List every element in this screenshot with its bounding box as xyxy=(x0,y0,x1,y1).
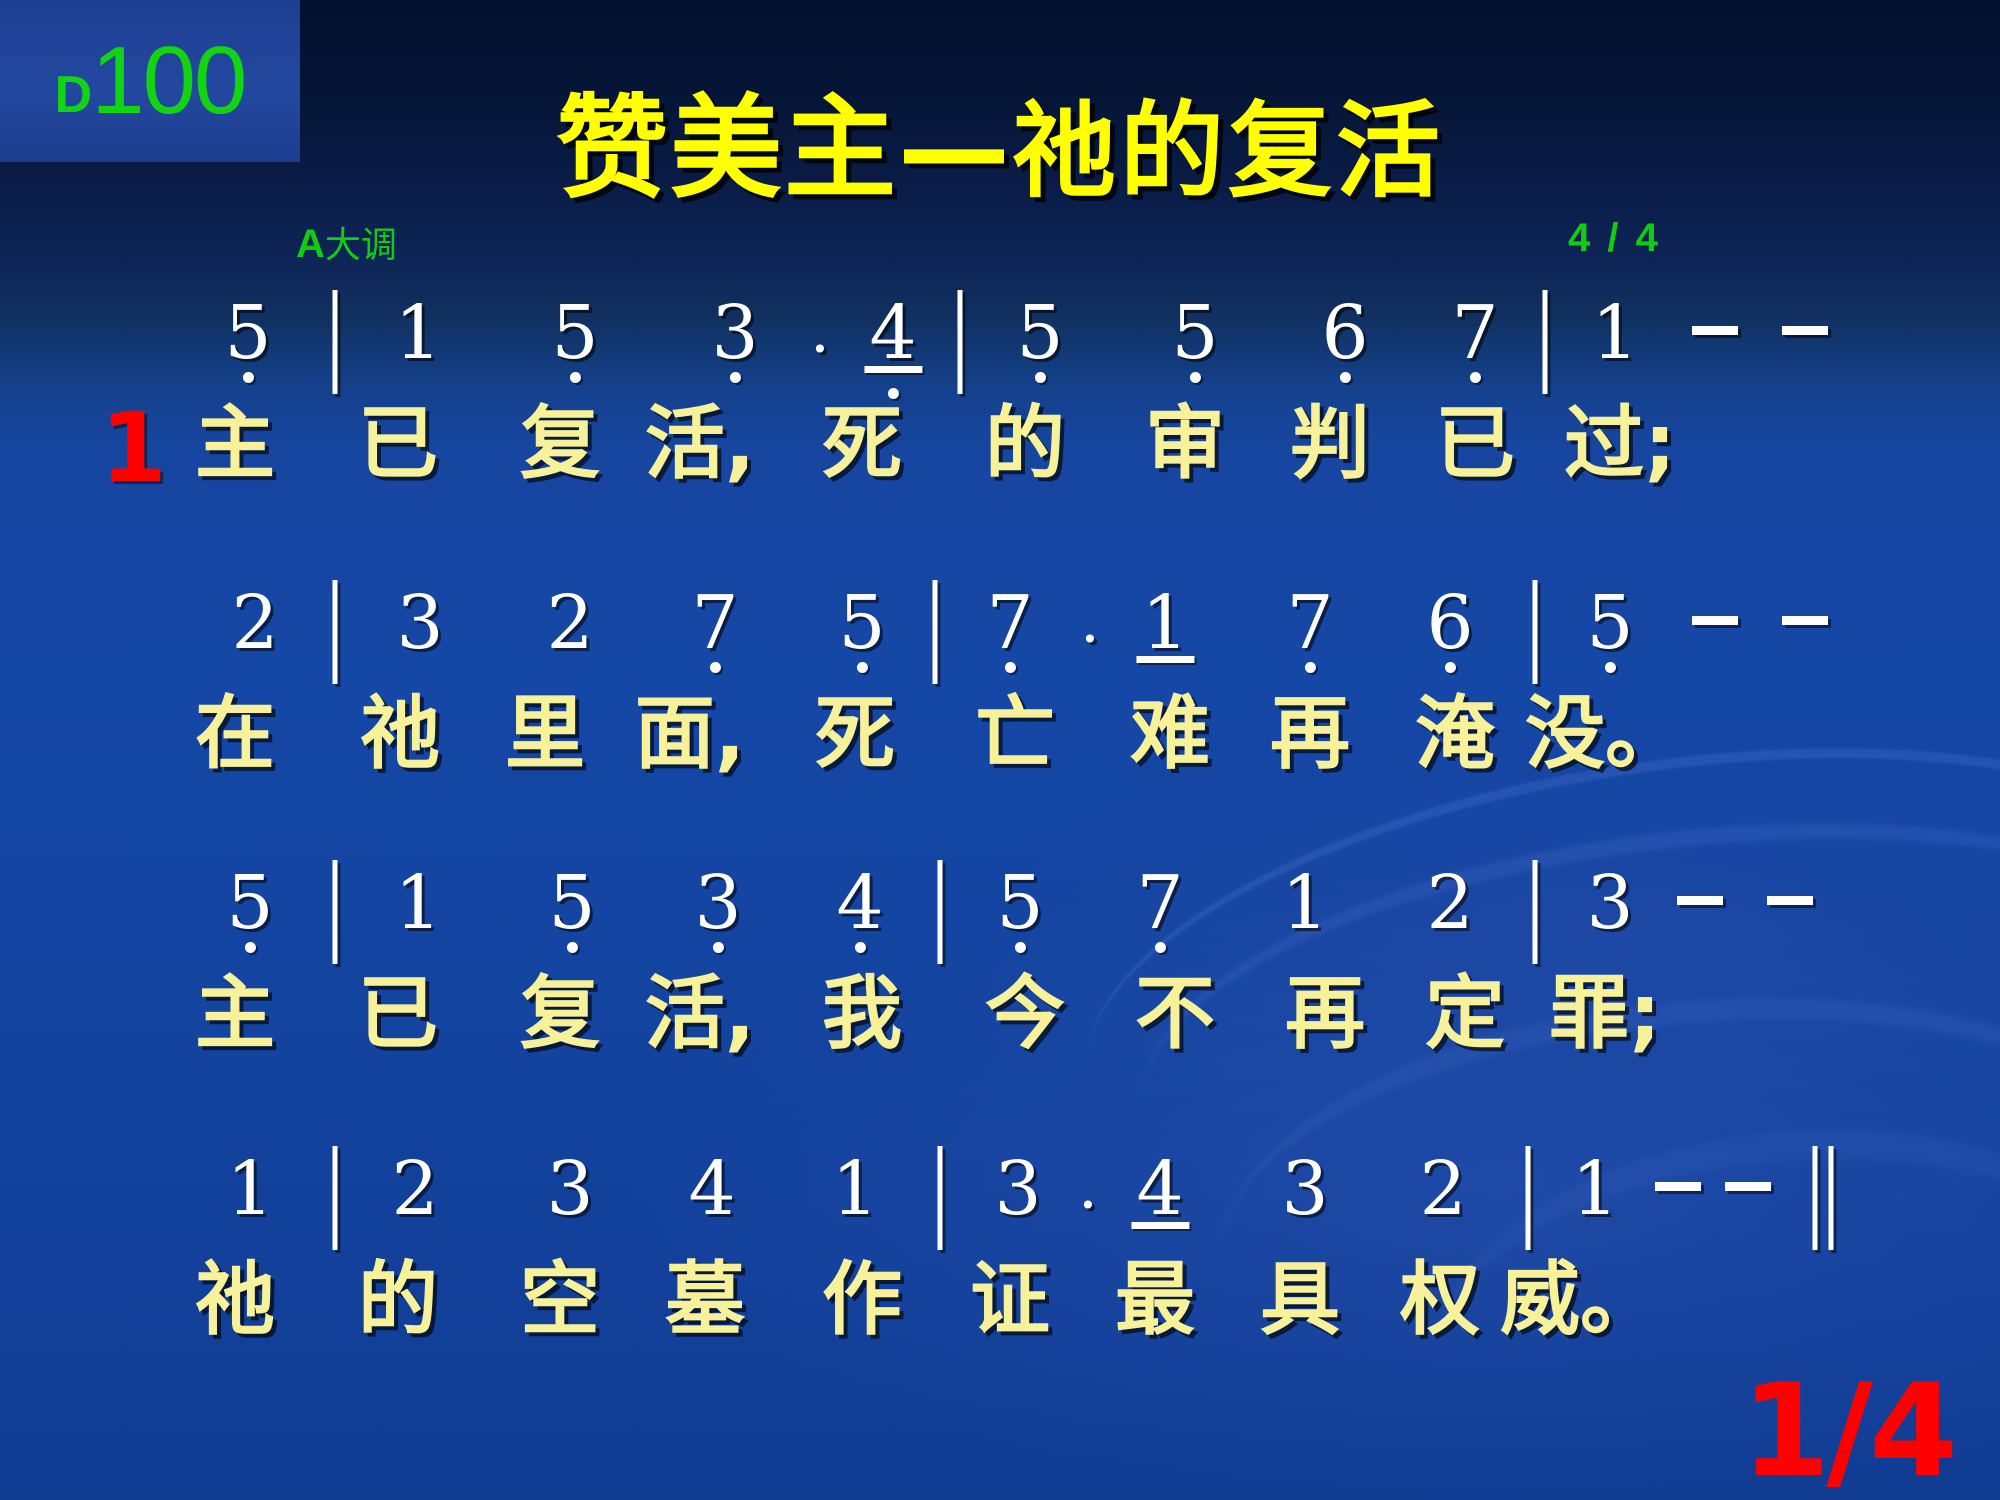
note-extension-dash xyxy=(1782,326,1828,335)
lyric-syllable: 祂 xyxy=(360,694,440,774)
octave-low-dot xyxy=(857,662,868,673)
music-system-3: 5153457123 主已复活,我今不再定罪; xyxy=(0,866,2000,1084)
note-extension-dash xyxy=(1692,326,1738,335)
slide-canvas: D 100 赞美主—祂的复活 A大调 4 / 4 1 5153·455671 主… xyxy=(0,0,2000,1500)
lyric-syllable: 面, xyxy=(635,694,745,774)
lyric-syllable: 再 xyxy=(1285,974,1365,1054)
double-barline xyxy=(1813,1146,1818,1250)
lyric-syllable: 已 xyxy=(1435,404,1515,484)
lyric-syllable: 里 xyxy=(505,694,585,774)
dotted-note-dot: · xyxy=(810,318,830,380)
note-1: 1 xyxy=(394,866,441,940)
lyric-syllable: 死 xyxy=(822,404,902,484)
lyric-syllable: 证 xyxy=(970,1260,1050,1340)
note-1: 1 xyxy=(226,1152,273,1226)
note-5: 5 xyxy=(224,296,271,370)
barline xyxy=(1543,290,1548,394)
note-5: 5 xyxy=(1171,296,1218,370)
note-5: 5 xyxy=(996,866,1043,940)
lyric-syllable: 罪; xyxy=(1549,974,1661,1054)
note-5: 5 xyxy=(548,866,595,940)
note-3: 3 xyxy=(711,296,758,370)
notation-row-2: 232757·1765 xyxy=(0,586,2000,694)
note-5: 5 xyxy=(838,586,885,660)
note-7: 7 xyxy=(1136,866,1183,940)
octave-low-dot xyxy=(855,942,866,953)
barline xyxy=(958,290,963,394)
note-4: 4 xyxy=(688,1152,735,1226)
octave-low-dot xyxy=(570,372,581,383)
music-system-1: 5153·455671 主已复活,死的审判已过; xyxy=(0,296,2000,514)
lyric-syllable: 没。 xyxy=(1525,694,1685,774)
note-7: 7 xyxy=(1451,296,1498,370)
barline xyxy=(938,1146,943,1250)
note-4: 4 xyxy=(836,866,883,940)
page-indicator: 1/4 xyxy=(1741,1368,1954,1496)
lyric-syllable: 在 xyxy=(195,694,275,774)
notation-row-1: 5153·455671 xyxy=(0,296,2000,404)
dotted-note-dot: · xyxy=(1078,1174,1098,1236)
key-signature: A大调 xyxy=(296,216,397,268)
note-4: 4 xyxy=(869,296,916,370)
lyric-syllable: 淹 xyxy=(1415,694,1495,774)
lyric-syllable: 判 xyxy=(1290,404,1370,484)
note-1: 1 xyxy=(1281,866,1328,940)
note-3: 3 xyxy=(694,866,741,940)
octave-low-dot xyxy=(1340,372,1351,383)
lyric-syllable: 审 xyxy=(1145,404,1225,484)
dotted-note-dot: · xyxy=(1080,608,1100,670)
note-1: 1 xyxy=(831,1152,878,1226)
note-1: 1 xyxy=(1591,296,1638,370)
lyric-syllable: 过; xyxy=(1564,404,1676,484)
lyric-syllable: 最 xyxy=(1115,1260,1195,1340)
lyric-syllable: 的 xyxy=(985,404,1065,484)
key-signature-label: 大调 xyxy=(325,224,397,265)
octave-low-dot xyxy=(1035,372,1046,383)
lyric-syllable: 墓 xyxy=(665,1260,745,1340)
octave-low-dot xyxy=(710,662,721,673)
note-extension-dash xyxy=(1677,896,1723,905)
note-1: 1 xyxy=(394,296,441,370)
barline xyxy=(333,860,338,964)
lyric-syllable: 定 xyxy=(1425,974,1505,1054)
barline xyxy=(333,290,338,394)
notation-row-4: 123413·4321 xyxy=(0,1152,2000,1260)
page-title: 赞美主—祂的复活 xyxy=(0,58,2000,220)
lyric-syllable: 作 xyxy=(822,1260,902,1340)
note-3: 3 xyxy=(396,586,443,660)
note-3: 3 xyxy=(1281,1152,1328,1226)
note-1: 1 xyxy=(1571,1152,1618,1226)
note-7: 7 xyxy=(1286,586,1333,660)
lyric-syllable: 威。 xyxy=(1500,1260,1660,1340)
note-7: 7 xyxy=(691,586,738,660)
key-signature-letter: A xyxy=(296,222,325,266)
note-5: 5 xyxy=(551,296,598,370)
barline xyxy=(333,1146,338,1250)
note-3: 3 xyxy=(1586,866,1633,940)
barline xyxy=(1526,1146,1531,1250)
lyric-syllable: 的 xyxy=(358,1260,438,1340)
note-5: 5 xyxy=(1586,586,1633,660)
note-7: 7 xyxy=(986,586,1033,660)
lyric-syllable: 主 xyxy=(195,974,275,1054)
time-signature: 4 / 4 xyxy=(1568,216,1661,261)
octave-low-dot xyxy=(1445,662,1456,673)
barline xyxy=(333,580,338,684)
note-extension-dash xyxy=(1692,616,1738,625)
lyric-row-2: 在祂里面,死亡难再淹没。 xyxy=(0,694,2000,804)
note-extension-dash xyxy=(1767,896,1813,905)
lyric-syllable: 活, xyxy=(645,404,755,484)
note-extension-dash xyxy=(1655,1182,1701,1191)
note-2: 2 xyxy=(546,586,593,660)
note-1: 1 xyxy=(1141,586,1188,660)
octave-low-dot xyxy=(245,942,256,953)
lyric-syllable: 死 xyxy=(815,694,895,774)
octave-low-dot xyxy=(1605,662,1616,673)
lyric-syllable: 已 xyxy=(358,974,438,1054)
notation-row-3: 5153457123 xyxy=(0,866,2000,974)
lyric-syllable: 主 xyxy=(195,404,275,484)
octave-low-dot xyxy=(567,942,578,953)
note-2: 2 xyxy=(1426,866,1473,940)
lyric-syllable: 权 xyxy=(1400,1260,1480,1340)
barline xyxy=(933,580,938,684)
lyric-syllable: 复 xyxy=(520,974,600,1054)
octave-low-dot xyxy=(243,372,254,383)
octave-low-dot xyxy=(730,372,741,383)
title-sub: 祂的复活 xyxy=(1012,89,1444,212)
octave-low-dot xyxy=(1470,372,1481,383)
note-extension-dash xyxy=(1782,616,1828,625)
lyric-syllable: 祂 xyxy=(195,1260,275,1340)
note-4: 4 xyxy=(1136,1152,1183,1226)
octave-low-dot xyxy=(713,942,724,953)
note-3: 3 xyxy=(994,1152,1041,1226)
lyric-row-4: 祂的空墓作证最具权威。 xyxy=(0,1260,2000,1370)
lyric-syllable: 难 xyxy=(1130,694,1210,774)
octave-low-dot xyxy=(1015,942,1026,953)
lyric-row-3: 主已复活,我今不再定罪; xyxy=(0,974,2000,1084)
lyric-syllable: 不 xyxy=(1135,974,1215,1054)
note-3: 3 xyxy=(546,1152,593,1226)
lyric-syllable: 今 xyxy=(985,974,1065,1054)
lyric-syllable: 具 xyxy=(1260,1260,1340,1340)
note-2: 2 xyxy=(1419,1152,1466,1226)
lyric-syllable: 我 xyxy=(822,974,902,1054)
note-6: 6 xyxy=(1426,586,1473,660)
title-main: 赞美主— xyxy=(556,84,1012,214)
note-5: 5 xyxy=(226,866,273,940)
lyric-syllable: 亡 xyxy=(975,694,1055,774)
lyric-syllable: 再 xyxy=(1270,694,1350,774)
octave-low-dot xyxy=(1305,662,1316,673)
lyric-syllable: 已 xyxy=(358,404,438,484)
barline xyxy=(938,860,943,964)
barline xyxy=(1533,860,1538,964)
note-6: 6 xyxy=(1321,296,1368,370)
octave-low-dot xyxy=(1005,662,1016,673)
lyric-syllable: 复 xyxy=(520,404,600,484)
note-2: 2 xyxy=(231,586,278,660)
octave-low-dot xyxy=(1190,372,1201,383)
music-system-2: 232757·1765 在祂里面,死亡难再淹没。 xyxy=(0,586,2000,804)
lyric-syllable: 空 xyxy=(520,1260,600,1340)
octave-low-dot xyxy=(1155,942,1166,953)
lyric-row-1: 主已复活,死的审判已过; xyxy=(0,404,2000,514)
note-extension-dash xyxy=(1725,1182,1771,1191)
lyric-syllable: 活, xyxy=(645,974,755,1054)
note-5: 5 xyxy=(1016,296,1063,370)
music-system-4: 123413·4321 祂的空墓作证最具权威。 xyxy=(0,1152,2000,1370)
note-2: 2 xyxy=(391,1152,438,1226)
barline xyxy=(1533,580,1538,684)
